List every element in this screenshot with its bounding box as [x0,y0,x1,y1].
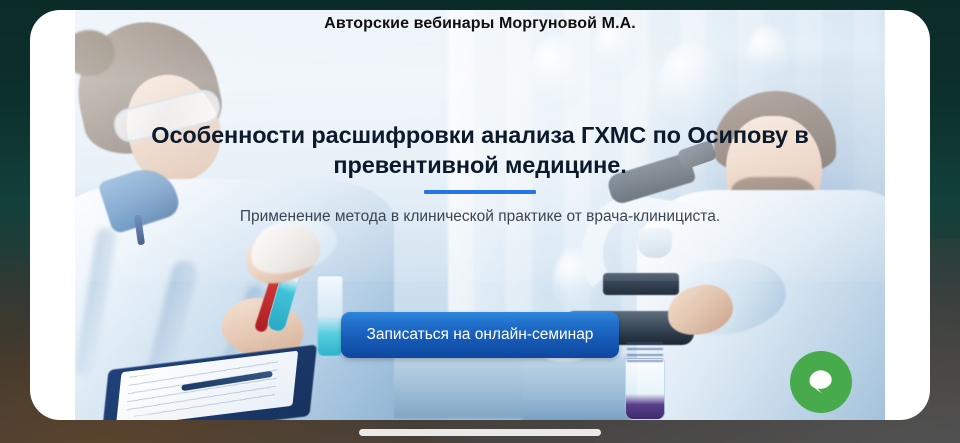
chat-launcher-button[interactable] [790,351,852,413]
cta-container: Записаться на онлайн-семинар [75,312,885,358]
chat-bubble-icon [806,367,836,397]
browser-card: Авторские вебинары Моргуновой М.А. Особе… [30,10,930,420]
heading-divider [424,190,536,194]
page-title: Особенности расшифровки анализа ГХМС по … [93,120,867,180]
home-indicator[interactable] [359,429,601,436]
hero-content: Авторские вебинары Моргуновой М.А. Особе… [75,10,885,420]
site-banner-title: Авторские вебинары Моргуновой М.А. [75,15,885,33]
signup-webinar-button[interactable]: Записаться на онлайн-семинар [341,312,620,358]
device-screen: Авторские вебинары Моргуновой М.А. Особе… [0,0,960,443]
hero-subtitle: Применение метода в клинической практике… [75,207,885,227]
page-viewport: Авторские вебинары Моргуновой М.А. Особе… [75,10,885,420]
